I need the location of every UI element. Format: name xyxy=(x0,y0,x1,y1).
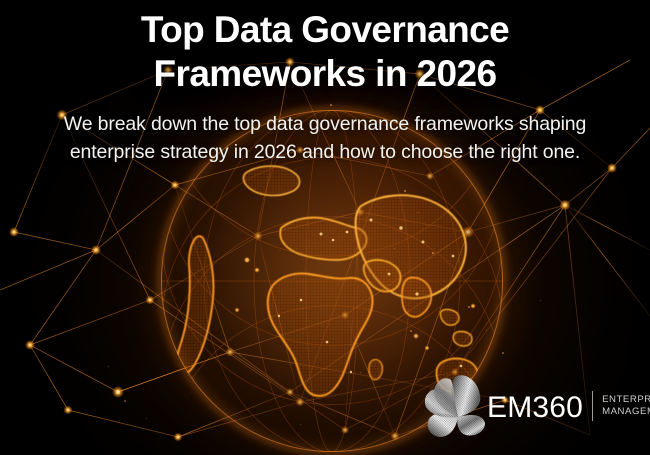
headline-block: Top Data Governance Frameworks in 2026 xyxy=(0,8,650,96)
subtitle-line-1: We break down the top data governance fr… xyxy=(16,110,634,138)
em360-petal-mark xyxy=(421,373,485,439)
em360-wordmark: EM360 xyxy=(487,393,583,423)
logo-tagline: ENTERPRISE MANAGEMENT 360 xyxy=(602,394,650,418)
subtitle-block: We break down the top data governance fr… xyxy=(0,110,650,166)
subtitle-line-2: enterprise strategy in 2026 and how to c… xyxy=(16,138,634,166)
promo-graphic: Top Data Governance Frameworks in 2026 W… xyxy=(0,0,650,455)
logo-tagline-line-1: ENTERPRISE xyxy=(602,394,650,406)
em360-logo: EM360 ENTERPRISE MANAGEMENT 360 xyxy=(421,370,650,442)
page-title-line-2: Frameworks in 2026 xyxy=(0,52,650,96)
logo-tagline-line-2: MANAGEMENT 360 xyxy=(602,406,650,418)
page-title-line-1: Top Data Governance xyxy=(0,8,650,52)
logo-divider xyxy=(592,391,593,421)
